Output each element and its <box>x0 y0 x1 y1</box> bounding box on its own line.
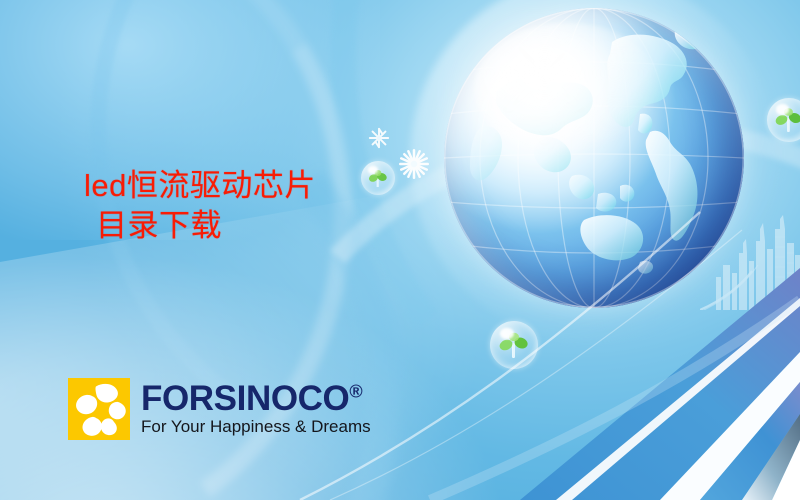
logo-wordmark-text: FORSINOCO <box>141 379 349 418</box>
sapling-icon <box>361 161 395 195</box>
forsinoco-flower-mark-icon <box>68 378 130 440</box>
bubble-highlight <box>500 328 514 340</box>
bubble-sapling-left <box>361 161 395 195</box>
headline-line-1: led恒流驱动芯片 <box>84 168 316 203</box>
registered-trademark-symbol: ® <box>349 382 362 402</box>
promo-banner: led恒流驱动芯片 目录下载 FORSINOCO® For Your Happi… <box>0 0 800 500</box>
globe-rim-light <box>444 8 744 308</box>
logo-tagline: For Your Happiness & Dreams <box>141 418 371 437</box>
bubble-highlight <box>368 166 378 174</box>
forsinoco-logo[interactable]: FORSINOCO® For Your Happiness & Dreams <box>68 378 371 440</box>
headline-line-2: 目录下载 <box>84 206 316 246</box>
globe-sphere <box>444 8 744 308</box>
bubble-highlight <box>776 104 789 115</box>
bubble-sapling-bottom <box>490 321 538 369</box>
logo-wordmark: FORSINOCO® <box>141 381 371 416</box>
logo-text-block: FORSINOCO® For Your Happiness & Dreams <box>141 381 371 437</box>
sapling-icon <box>490 321 538 369</box>
headline-text: led恒流驱动芯片 目录下载 <box>84 166 316 247</box>
flower-petals-icon <box>68 378 130 440</box>
earth-globe <box>444 8 744 308</box>
